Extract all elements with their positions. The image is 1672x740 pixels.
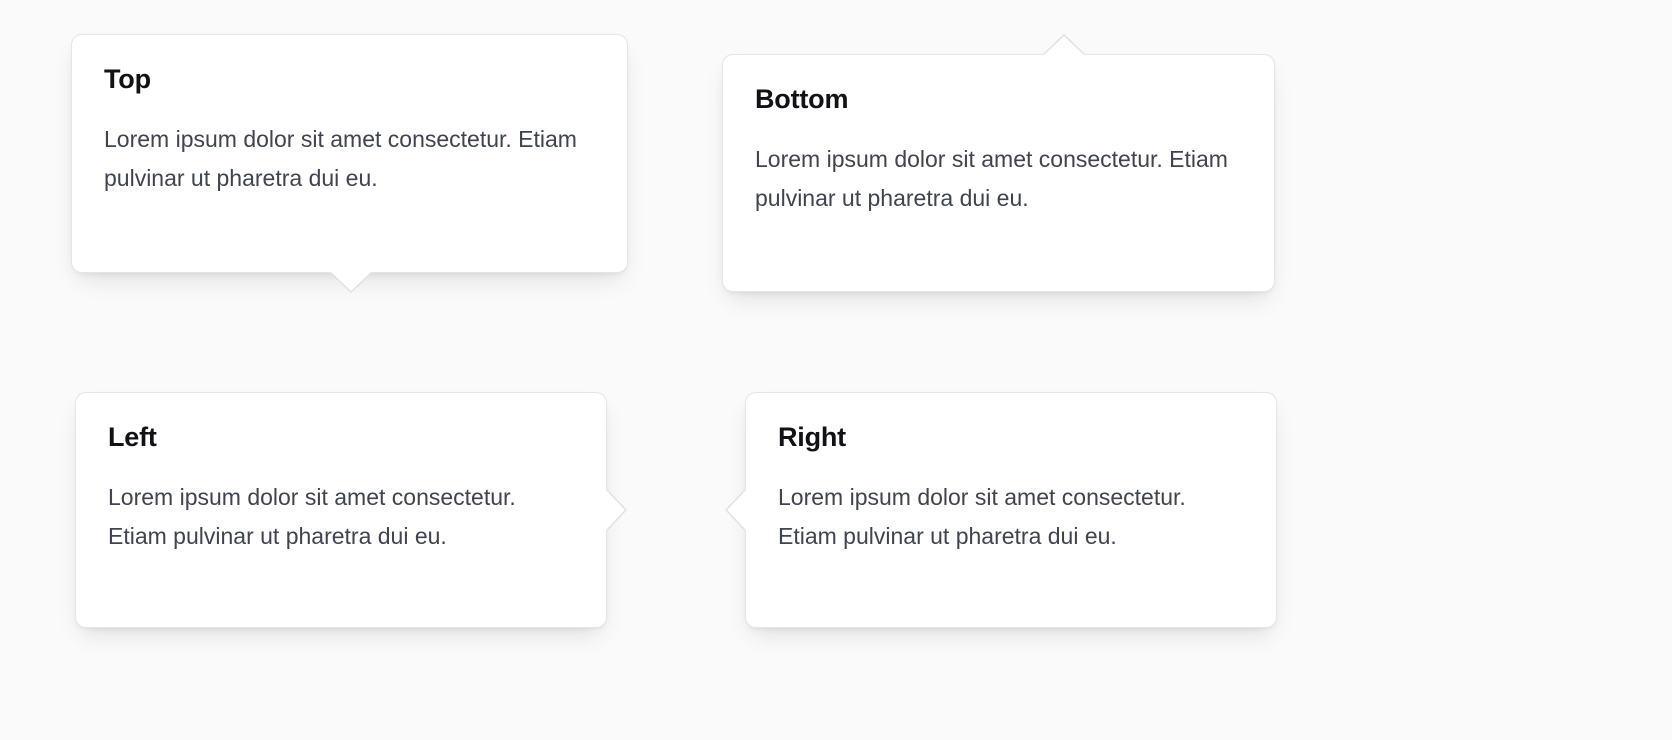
popover-left[interactable]: Left Lorem ipsum dolor sit amet consecte… [75, 392, 607, 628]
popover-bottom[interactable]: Bottom Lorem ipsum dolor sit amet consec… [722, 54, 1275, 292]
popover-top-body: Lorem ipsum dolor sit amet consectetur. … [104, 120, 595, 198]
popover-left-body: Lorem ipsum dolor sit amet consectetur. … [108, 478, 574, 556]
popover-right[interactable]: Right Lorem ipsum dolor sit amet consect… [745, 392, 1277, 628]
popover-bottom-title: Bottom [755, 85, 1242, 114]
popover-right-title: Right [778, 423, 1244, 452]
popover-bottom-body: Lorem ipsum dolor sit amet consectetur. … [755, 140, 1242, 218]
popover-left-title: Left [108, 423, 574, 452]
popover-top[interactable]: Top Lorem ipsum dolor sit amet consectet… [71, 34, 628, 273]
popover-showcase-stage: Top Lorem ipsum dolor sit amet consectet… [0, 0, 1672, 740]
popover-right-body: Lorem ipsum dolor sit amet consectetur. … [778, 478, 1244, 556]
popover-top-title: Top [104, 65, 595, 94]
